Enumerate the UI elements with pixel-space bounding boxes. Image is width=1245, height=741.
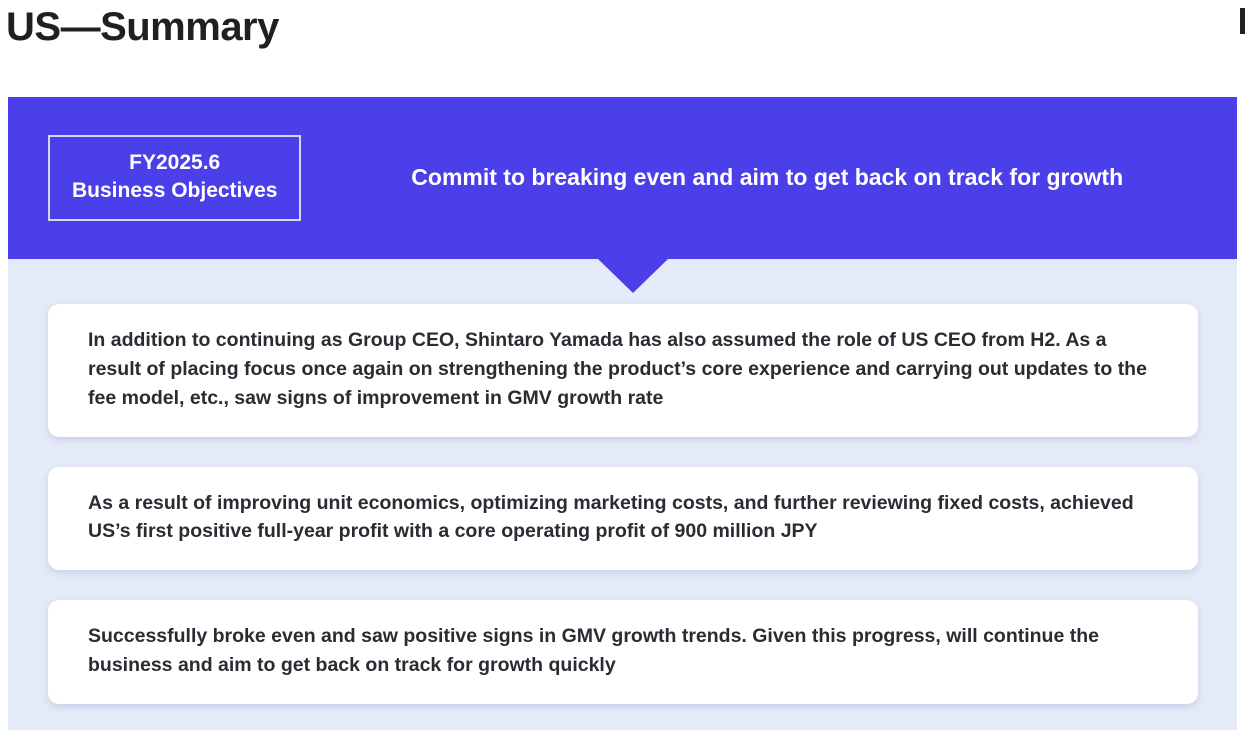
objective-tag-fiscal-year: FY2025.6 <box>72 149 277 177</box>
fiscal-year-objective-tag: FY2025.6 Business Objectives <box>48 135 301 222</box>
summary-card-text: In addition to continuing as Group CEO, … <box>88 326 1164 413</box>
list-item: As a result of improving unit economics,… <box>48 467 1198 571</box>
triangle-down-icon <box>598 259 668 293</box>
page-edge-mark-icon <box>1240 8 1245 34</box>
content-panel: FY2025.6 Business Objectives Commit to b… <box>8 97 1237 730</box>
objective-tag-label: Business Objectives <box>72 177 277 205</box>
list-item: In addition to continuing as Group CEO, … <box>48 304 1198 437</box>
summary-card-text: Successfully broke even and saw positive… <box>88 622 1164 680</box>
objective-band: FY2025.6 Business Objectives Commit to b… <box>8 97 1237 259</box>
objective-headline: Commit to breaking even and aim to get b… <box>301 163 1237 193</box>
summary-card-text: As a result of improving unit economics,… <box>88 489 1164 547</box>
list-item: Successfully broke even and saw positive… <box>48 600 1198 704</box>
summary-card-list: In addition to continuing as Group CEO, … <box>48 304 1198 734</box>
page-title: US—Summary <box>6 2 279 52</box>
